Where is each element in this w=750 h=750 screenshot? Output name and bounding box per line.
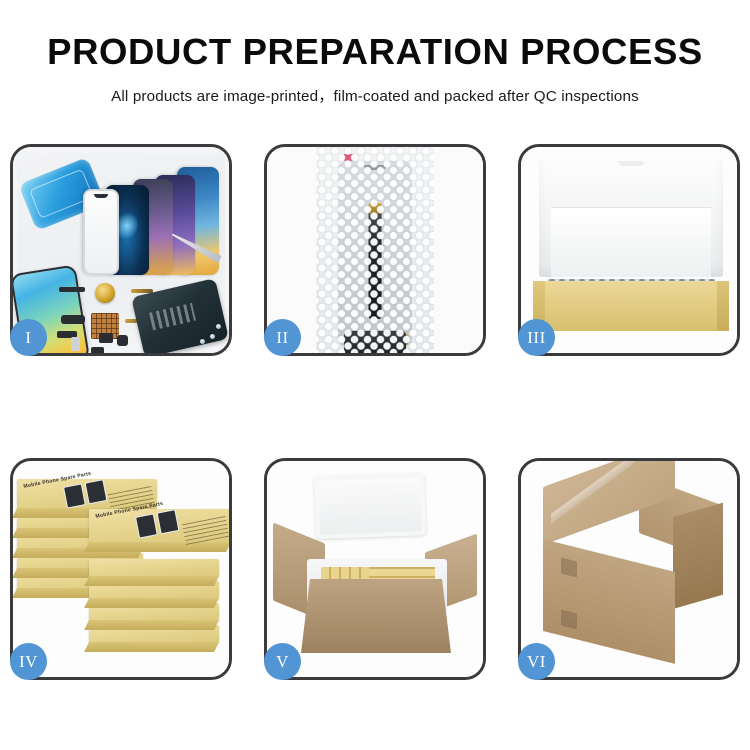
photo-parts-assortment — [13, 147, 229, 353]
small-part-graphic — [99, 333, 113, 343]
kraft-box-base-graphic — [533, 281, 729, 331]
photo-boxes-stacked: Mobile Phone Spare Parts Mobile Phone Sp… — [13, 461, 229, 677]
process-step-panel-3: III — [518, 144, 740, 356]
kraft-box-labelled: Mobile Phone Spare Parts — [89, 509, 229, 543]
bubble-texture — [316, 147, 434, 353]
small-part-graphic — [59, 287, 85, 292]
process-step-panel-2: II — [264, 144, 486, 356]
process-step-panel-5: V — [264, 458, 486, 680]
screw-graphic — [200, 339, 205, 344]
small-part-graphic — [117, 335, 128, 346]
lid-notch-graphic — [618, 161, 644, 166]
screw-graphic — [216, 324, 221, 329]
battery-connector-graphic — [71, 337, 80, 351]
phone-screen-1 — [83, 189, 119, 275]
process-step-panel-6: VI — [518, 458, 740, 680]
small-part-graphic — [61, 315, 85, 324]
kraft-box-labelled: Mobile Phone Spare Parts — [17, 479, 157, 509]
step-badge-2: II — [264, 319, 301, 356]
carton-body-graphic — [301, 579, 451, 653]
bubble-wrap-bag-graphic — [316, 147, 434, 353]
kraft-box — [89, 559, 219, 577]
page-title: PRODUCT PREPARATION PROCESS — [0, 34, 750, 71]
speaker-coil-graphic — [95, 283, 115, 303]
photo-carton-sealed — [521, 461, 737, 677]
process-step-grid: I II III — [10, 144, 740, 680]
photo-bubble-wrapping — [267, 147, 483, 353]
carton-side-face — [673, 503, 723, 609]
carton-front-face — [543, 539, 675, 664]
small-part-graphic — [91, 347, 104, 353]
page-header: PRODUCT PREPARATION PROCESS All products… — [0, 0, 750, 106]
process-step-panel-1: I — [10, 144, 232, 356]
step-badge-1: I — [10, 319, 47, 356]
box-artwork-thumbnails — [63, 479, 110, 507]
sealed-carton-graphic — [543, 487, 723, 641]
page-subtitle: All products are image-printed，film-coat… — [0, 84, 750, 106]
process-step-panel-4: Mobile Phone Spare Parts Mobile Phone Sp… — [10, 458, 232, 680]
step-badge-5: V — [264, 643, 301, 680]
foam-lid-graphic — [314, 473, 426, 539]
photo-carton-loading — [267, 461, 483, 677]
carton-handle-tab — [561, 557, 577, 577]
photo-inner-box-packing — [521, 147, 737, 353]
step-badge-6: VI — [518, 643, 555, 680]
box-lid-graphic — [539, 159, 723, 277]
screen-lineup-graphic — [83, 155, 229, 275]
step-badge-3: III — [518, 319, 555, 356]
screw-graphic — [210, 334, 215, 339]
kraft-box-stack-graphic: Mobile Phone Spare Parts Mobile Phone Sp… — [13, 461, 229, 677]
box-spec-text-lines — [182, 515, 229, 545]
carton-handle-tab — [561, 609, 577, 629]
step-badge-4: IV — [10, 643, 47, 680]
box-artwork-thumbnails — [135, 509, 182, 537]
